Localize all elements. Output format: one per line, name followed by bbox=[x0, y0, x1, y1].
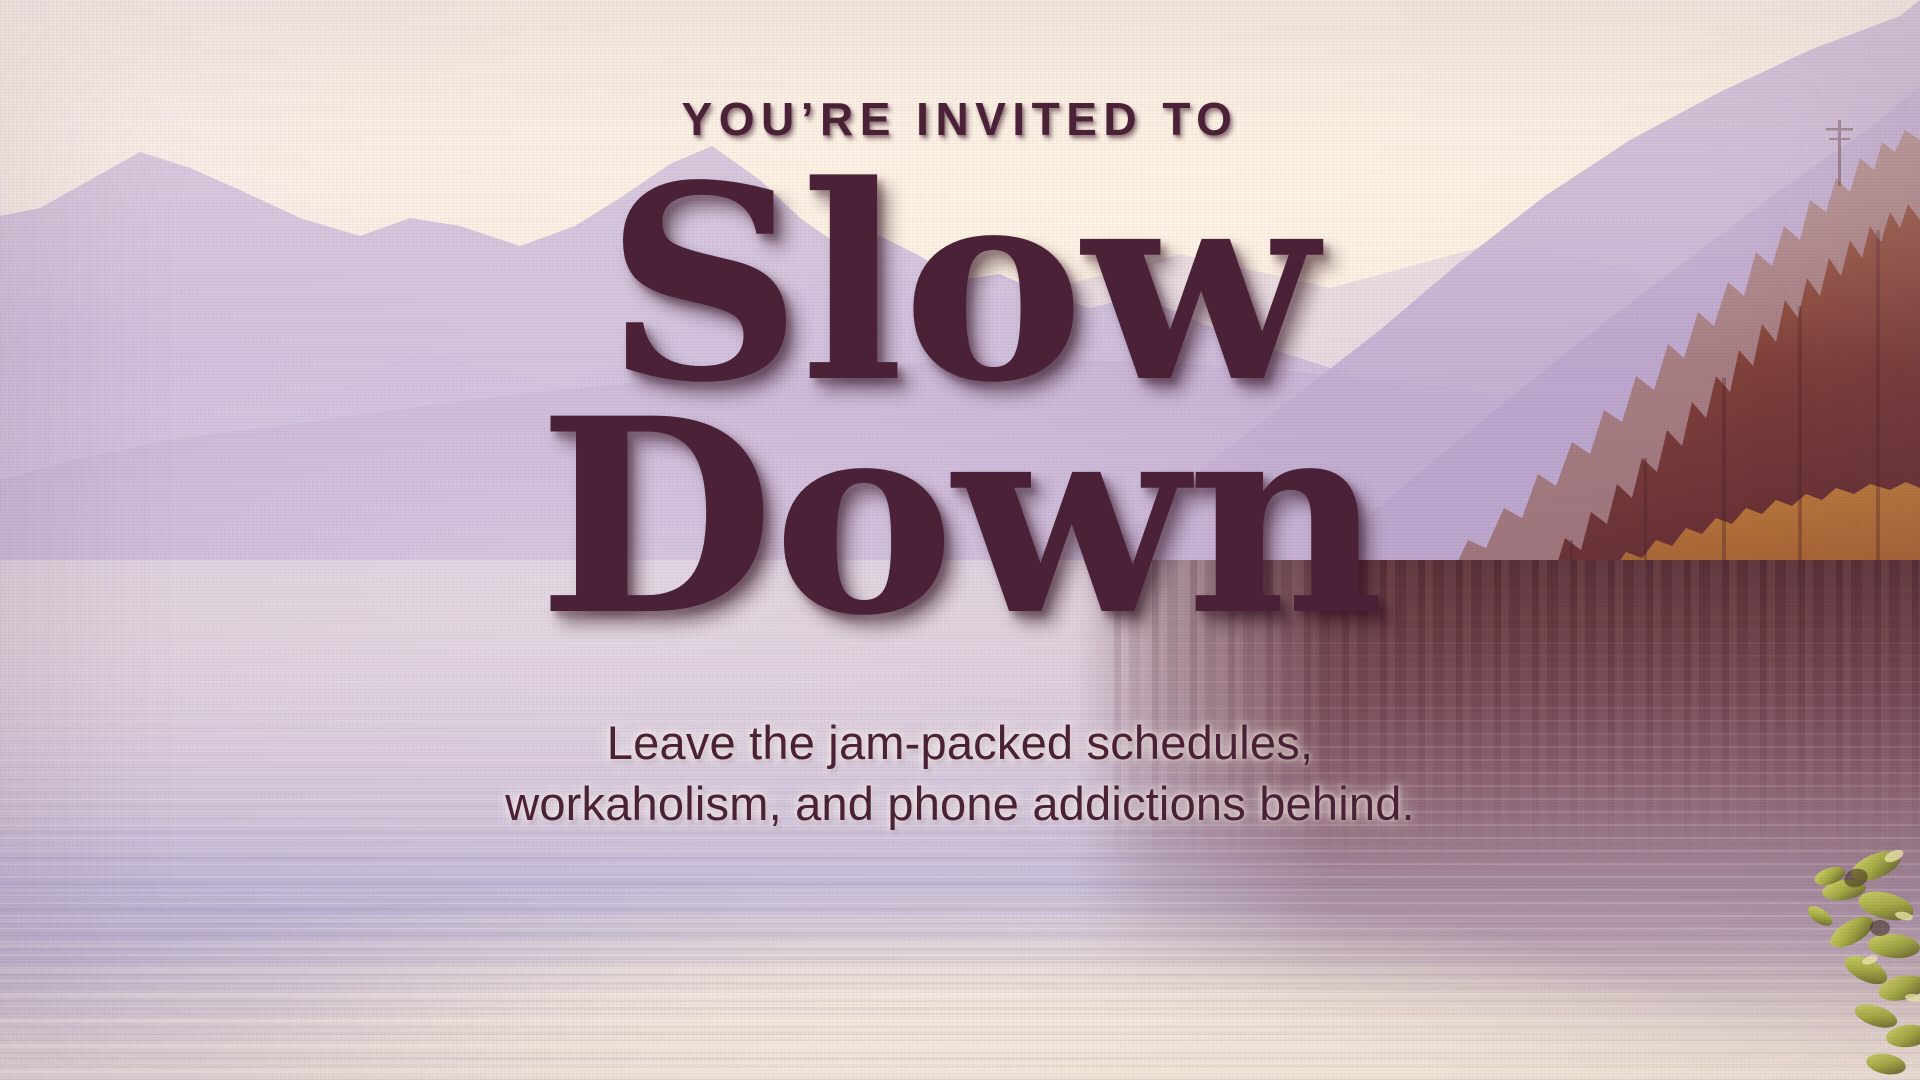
subtitle-line-1: Leave the jam-packed schedules, bbox=[505, 712, 1415, 773]
headline-line-2: Down bbox=[537, 401, 1382, 634]
poster-content: YOU’RE INVITED TO Slow Down Leave the ja… bbox=[0, 0, 1920, 1080]
subtitle: Leave the jam-packed schedules, workahol… bbox=[505, 712, 1415, 834]
headline: Slow Down bbox=[537, 168, 1382, 634]
subtitle-line-2: workaholism, and phone addictions behind… bbox=[505, 773, 1415, 834]
invitation-poster: YOU’RE INVITED TO Slow Down Leave the ja… bbox=[0, 0, 1920, 1080]
